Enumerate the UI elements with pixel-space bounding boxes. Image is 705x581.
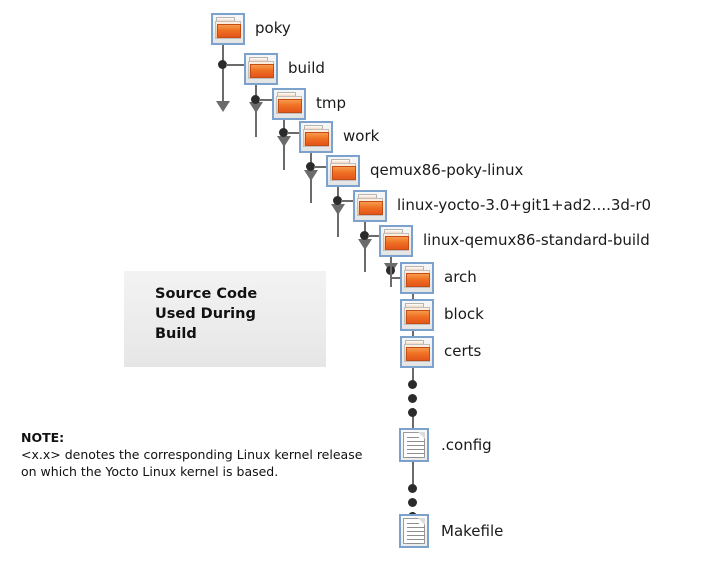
folder-icon xyxy=(400,262,434,294)
tree-node-label: block xyxy=(444,307,484,322)
ellipsis-dot xyxy=(408,408,417,417)
source-code-callout-box: Source Code Used During Build xyxy=(124,271,326,367)
folder-icon xyxy=(326,155,360,187)
ellipsis-dot xyxy=(408,484,417,493)
tree-node-label: .config xyxy=(441,438,492,453)
tree-node-label: build xyxy=(288,61,325,76)
connector-arrow xyxy=(358,239,372,250)
ellipsis-dot xyxy=(408,394,417,403)
tree-node-label: arch xyxy=(444,270,477,285)
note-block: NOTE: <x.x> denotes the corresponding Li… xyxy=(21,430,381,481)
connector-line xyxy=(222,45,224,103)
connector-arrow xyxy=(304,170,318,181)
connector-arrow xyxy=(277,136,291,147)
folder-icon xyxy=(272,88,306,120)
note-body: <x.x> denotes the corresponding Linux ke… xyxy=(21,446,381,482)
tree-node-label: certs xyxy=(444,344,481,359)
tree-node-label: tmp xyxy=(316,96,346,111)
ellipsis-dot xyxy=(408,498,417,507)
connector-elbow-vertical xyxy=(390,257,392,279)
connector-arrow xyxy=(331,204,345,215)
connector-line xyxy=(412,462,414,486)
connector-line xyxy=(226,64,246,66)
file-icon xyxy=(399,514,429,548)
folder-icon xyxy=(379,225,413,257)
callout-text: Source Code Used During Build xyxy=(155,284,257,344)
tree-node-label: Makefile xyxy=(441,524,503,539)
tree-node-label: qemux86-poky-linux xyxy=(370,163,523,178)
folder-icon xyxy=(400,336,434,368)
connector-arrow xyxy=(216,101,230,112)
tree-node-label: linux-qemux86-standard-build xyxy=(423,233,650,248)
folder-icon xyxy=(353,190,387,222)
file-icon xyxy=(399,428,429,462)
ellipsis-dot xyxy=(408,380,417,389)
folder-icon xyxy=(400,299,434,331)
folder-icon xyxy=(299,121,333,153)
tree-node-label: work xyxy=(343,129,379,144)
tree-node-label: poky xyxy=(255,21,291,36)
note-title: NOTE: xyxy=(21,430,381,446)
diagram-canvas: poky build tmp work qemux86-poky-linux l… xyxy=(0,0,705,581)
tree-node-label: linux-yocto-3.0+git1+ad2....3d-r0 xyxy=(397,198,651,213)
folder-icon xyxy=(211,13,245,45)
folder-icon xyxy=(244,53,278,85)
